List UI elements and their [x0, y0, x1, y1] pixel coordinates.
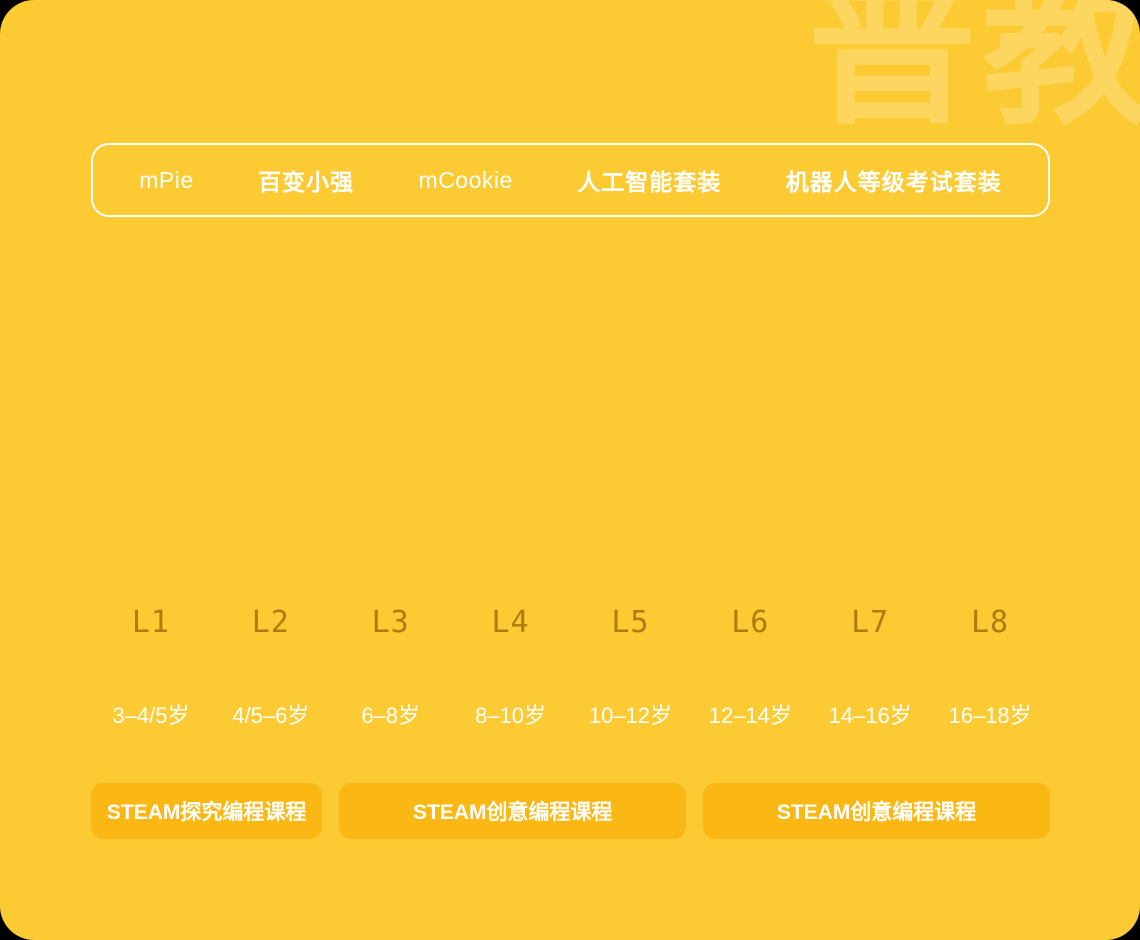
nav-item-0[interactable]: mPie [139, 167, 193, 194]
bar-label: L7 [810, 605, 930, 640]
age-label-3: 8–10岁 [451, 698, 571, 730]
level-bar-chart: L1L2L3L4L5L6L7L8 [91, 280, 1050, 664]
course-pill-row[interactable]: STEAM探究编程课程STEAM创意编程课程STEAM创意编程课程 [91, 783, 1050, 839]
nav-item-2[interactable]: mCookie [419, 167, 513, 194]
age-label-5: 12–14岁 [690, 698, 810, 730]
age-label-7: 16–18岁 [930, 698, 1050, 730]
bar-label: L6 [690, 605, 810, 640]
nav-item-1[interactable]: 百变小强 [258, 163, 354, 197]
bar-label: L1 [91, 605, 211, 640]
nav-item-4[interactable]: 机器人等级考试套装 [786, 163, 1002, 197]
age-label-6: 14–16岁 [810, 698, 930, 730]
age-label-2: 6–8岁 [331, 698, 451, 730]
age-range-row: 3–4/5岁4/5–6岁6–8岁8–10岁10–12岁12–14岁14–16岁1… [91, 698, 1050, 730]
bar-label: L5 [571, 605, 691, 640]
course-pill-2[interactable]: STEAM创意编程课程 [703, 783, 1050, 839]
course-level-card: 普教 mPie百变小强mCookie人工智能套装机器人等级考试套装 L1L2L3… [0, 0, 1140, 940]
course-pill-1[interactable]: STEAM创意编程课程 [339, 783, 686, 839]
age-label-1: 4/5–6岁 [211, 698, 331, 730]
product-nav-bar[interactable]: mPie百变小强mCookie人工智能套装机器人等级考试套装 [91, 143, 1050, 217]
bar-label: L4 [451, 605, 571, 640]
age-label-0: 3–4/5岁 [91, 698, 211, 730]
age-label-4: 10–12岁 [571, 698, 691, 730]
watermark-text: 普教 [808, 0, 1140, 134]
nav-item-3[interactable]: 人工智能套装 [577, 163, 721, 197]
bar-label: L2 [211, 605, 331, 640]
bar-label: L8 [930, 605, 1050, 640]
course-pill-0[interactable]: STEAM探究编程课程 [91, 783, 322, 839]
bar-label: L3 [331, 605, 451, 640]
